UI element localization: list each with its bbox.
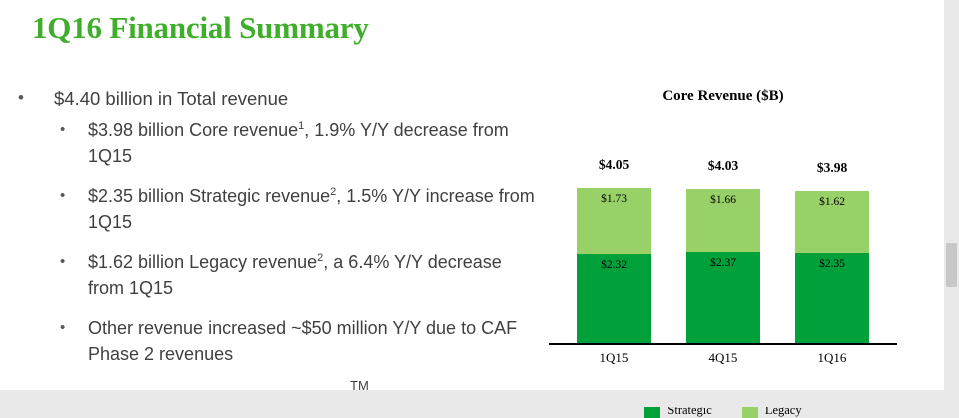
bullet-text: $1.62 billion Legacy revenue2, a 6.4% Y/… [88, 252, 502, 298]
bullet-list: • $4.40 billion in Total revenue • $3.98… [18, 86, 538, 381]
right-strip [944, 0, 959, 407]
bullet-text-pre: $1.62 billion Legacy revenue [88, 252, 317, 272]
scrollbar-thumb[interactable] [946, 243, 957, 287]
x-axis-line [549, 343, 897, 345]
bullet-text: $2.35 billion Strategic revenue2, 1.5% Y… [88, 186, 535, 232]
core-revenue-chart: Core Revenue ($B) $4.05 $1.73 $2.32 1Q15… [543, 88, 903, 388]
bar-total-label: $4.05 [577, 157, 651, 173]
bar-segment-strategic: $2.32 [577, 254, 651, 343]
bar-segment-legacy: $1.73 [577, 188, 651, 254]
bar-column: $3.98 $1.62 $2.35 [795, 191, 869, 343]
bar-segment-label: $1.73 [577, 193, 651, 205]
bullet-marker-icon: • [18, 86, 24, 110]
chart-title: Core Revenue ($B) [543, 88, 903, 105]
bullet-text: $4.40 billion in Total revenue [54, 88, 288, 109]
bar-segment-strategic: $2.37 [686, 252, 760, 343]
bullet-marker-icon: • [60, 249, 65, 274]
bullet-marker-icon: • [60, 117, 65, 142]
bar-segment-strategic: $2.35 [795, 253, 869, 343]
bullet-text-pre: $2.35 billion Strategic revenue [88, 186, 330, 206]
bullet-marker-icon: • [60, 183, 65, 208]
bullet-text: $3.98 billion Core revenue1, 1.9% Y/Y de… [88, 120, 509, 166]
bar-segment-label: $2.35 [795, 258, 869, 270]
page-title: 1Q16 Financial Summary [32, 10, 369, 46]
bullet-text-pre: $3.98 billion Core revenue [88, 120, 298, 140]
bar-segment-legacy: $1.62 [795, 191, 869, 253]
list-item: • $2.35 billion Strategic revenue2, 1.5%… [18, 183, 538, 235]
bullet-marker-icon: • [60, 315, 65, 340]
list-item: • $1.62 billion Legacy revenue2, a 6.4% … [18, 249, 538, 301]
list-item: • $4.40 billion in Total revenue [18, 86, 538, 111]
bar-column: $4.05 $1.73 $2.32 [577, 188, 651, 343]
bullet-text: Other revenue increased ~$50 million Y/Y… [88, 318, 517, 364]
bar-segment-label: $2.32 [577, 259, 651, 271]
list-item: • Other revenue increased ~$50 million Y… [18, 315, 538, 367]
x-tick-label: 1Q16 [795, 350, 869, 366]
list-item: • $3.98 billion Core revenue1, 1.9% Y/Y … [18, 117, 538, 169]
bar-column: $4.03 $1.66 $2.37 [686, 189, 760, 343]
x-tick-label: 4Q15 [686, 350, 760, 366]
bar-segment-label: $1.66 [686, 194, 760, 206]
slide-canvas: 1Q16 Financial Summary • $4.40 billion i… [0, 0, 944, 390]
chart-plot-area: $4.05 $1.73 $2.32 1Q15 $4.03 $1.66 $2.37… [543, 128, 903, 358]
bottom-strip [0, 390, 944, 407]
bar-total-label: $4.03 [686, 158, 760, 174]
bar-total-label: $3.98 [795, 160, 869, 176]
bar-segment-label: $1.62 [795, 196, 869, 208]
x-tick-label: 1Q15 [577, 350, 651, 366]
bar-segment-label: $2.37 [686, 257, 760, 269]
bar-segment-legacy: $1.66 [686, 189, 760, 253]
